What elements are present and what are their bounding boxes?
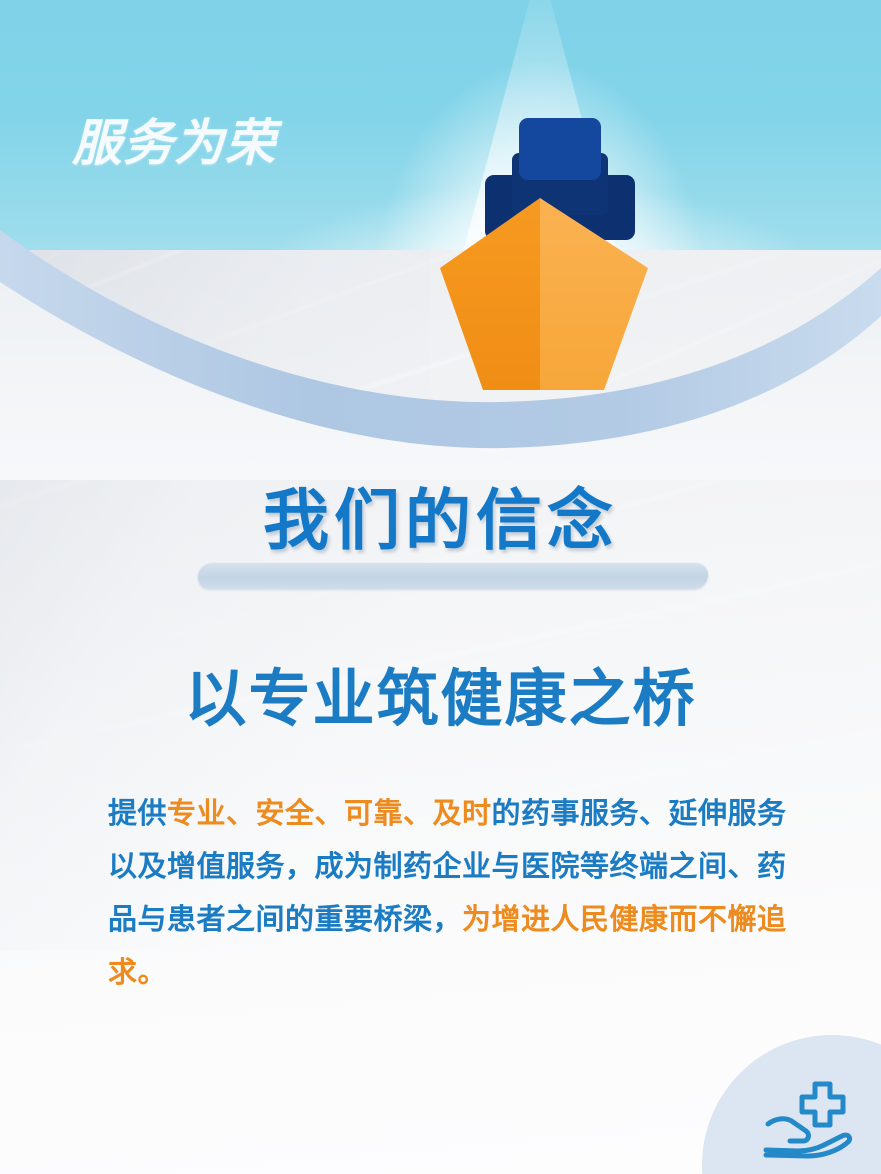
calligraphy-logo: 服务为荣	[72, 104, 282, 182]
hand-holding-medical-cross-icon	[760, 1080, 860, 1160]
ship-illustration	[0, 0, 881, 420]
page-subtitle: 以专业筑健康之桥	[0, 668, 881, 730]
poster-canvas: 服务为荣 我们的信念 以专业筑健康之桥 提供专业、安全、可靠、及时的药事服务、延…	[0, 0, 881, 1174]
page-title: 我们的信念	[0, 488, 881, 554]
title-underline-bar	[197, 563, 709, 589]
body-segment: 专业、安全、可靠、及时	[167, 796, 492, 830]
body-segment: 提供	[108, 796, 167, 830]
body-paragraph: 提供专业、安全、可靠、及时的药事服务、延伸服务以及增值服务，成为制药企业与医院等…	[108, 787, 798, 999]
page-title-block: 我们的信念	[0, 488, 881, 554]
calligraphy-logo-text: 服务为荣	[72, 104, 282, 182]
